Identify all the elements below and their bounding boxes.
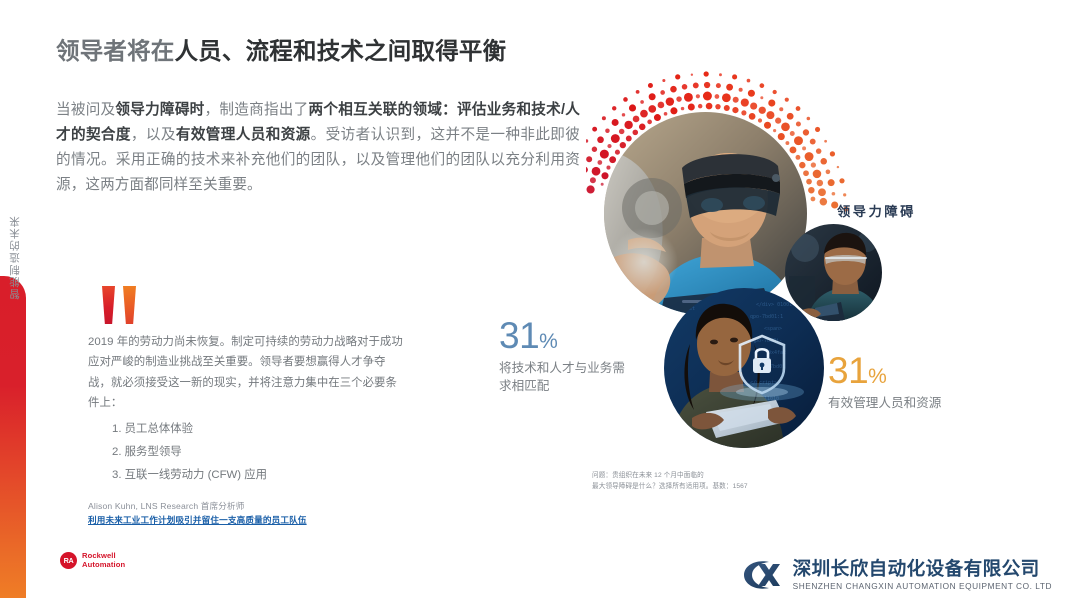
body-seg-6-bold: 有效管理人员和资源 [176,127,311,143]
changxin-company-logo: 深圳长欣自动化设备有限公司 SHENZHEN CHANGXIN AUTOMATI… [742,558,1052,592]
page-title-emphasis: 人员、流程和技术之间取得平衡 [175,38,507,64]
changxin-mark-icon [742,558,784,592]
stat-caption: 将技术和人才与业务需求相匹配 [499,360,631,396]
cybersecurity-lock-photo: </div> 01001 qpo-7bd01:1 <span> qpo-7bd0… [664,288,824,448]
footnote-line-2: 最大领导障碍是什么？选择所有适用项。基数：1567 [592,481,842,492]
pull-quote-block: 2019 年的劳动力尚未恢复。制定可持续的劳动力战略对于成功应对严峻的制造业挑战… [88,286,408,527]
vertical-section-label: 智能制造的未来 [3,150,25,300]
stat-manage-people-resources: 31% 有效管理人员和资源 [828,352,1008,413]
collage-label: 领导力障碍 [837,201,916,220]
technician-tablet-photo [785,224,882,321]
changxin-name-en: SHENZHEN CHANGXIN AUTOMATION EQUIPMENT C… [793,581,1052,591]
pull-quote-list: 1. 员工总体体验 2. 服务型领导 3. 互联一线劳动力 (CFW) 应用 [88,418,408,486]
rockwell-automation-logo: RA Rockwell Automation [60,551,125,570]
changxin-name-cn: 深圳长欣自动化设备有限公司 [793,559,1052,580]
svg-text:qpo-7bd01:1: qpo-7bd01:1 [750,314,783,320]
body-seg-1: 当被问及 [56,102,115,118]
stat-percent-sign: % [868,365,886,388]
changxin-wordmark: 深圳长欣自动化设备有限公司 SHENZHEN CHANGXIN AUTOMATI… [793,559,1052,591]
body-seg-3: ，制造商指出了 [205,102,309,118]
rockwell-badge-icon: RA [60,552,77,569]
stat-value: 31% [828,352,1008,389]
pull-quote-attribution: Alison Kuhn, LNS Research 首席分析师 利用未来工业工作… [88,500,408,528]
footnote-line-1: 问题：贵组织在未来 12 个月中面临的 [592,470,842,481]
quote-source-link[interactable]: 利用未来工业工作计划吸引并留住一支高质量的员工队伍 [88,514,408,528]
rockwell-wordmark: Rockwell Automation [82,551,125,570]
list-item: 2. 服务型领导 [112,441,408,464]
list-item: 1. 员工总体体验 [112,418,408,441]
pull-quote-text: 2019 年的劳动力尚未恢复。制定可持续的劳动力战略对于成功应对严峻的制造业挑战… [88,332,408,413]
rockwell-word-line-1: Rockwell [82,551,125,560]
stat-percent-sign: % [539,330,557,353]
page-title-lead: 领导者将在 [56,38,175,64]
list-item: 3. 互联一线劳动力 (CFW) 应用 [112,464,408,487]
page-title: 领导者将在人员、流程和技术之间取得平衡 [56,36,696,67]
quote-mark-icon [102,286,115,324]
body-paragraph: 当被问及领导力障碍时，制造商指出了两个相互关联的领域：评估业务和技术/人才的契合… [56,98,580,198]
stat-technology-talent-match: 31% 将技术和人才与业务需求相匹配 [499,317,631,396]
vertical-section-label-text: 智能制造的未来 [7,215,22,300]
left-accent-bar [0,276,26,598]
survey-footnote: 问题：贵组织在未来 12 个月中面临的 最大领导障碍是什么？选择所有适用项。基数… [592,470,842,493]
slide-canvas: 智能制造的未来 领导者将在人员、流程和技术之间取得平衡 当被问及领导力障碍时，制… [0,0,1066,598]
stat-value: 31% [499,317,631,354]
body-seg-5: ，以及 [131,127,176,143]
svg-text:<span>: <span> [764,326,782,332]
stat-number: 31 [828,350,868,391]
ar-headset-engineer-photo [604,112,807,315]
stat-caption: 有效管理人员和资源 [828,395,1008,413]
quote-author-name: Alison Kuhn, LNS Research 首席分析师 [88,501,245,511]
stat-number: 31 [499,315,539,356]
rockwell-word-line-2: Automation [82,560,125,569]
quote-mark-icon [123,286,136,324]
quote-mark-group [102,286,408,324]
body-seg-2-bold: 领导力障碍时 [115,102,204,118]
svg-text:</div> 01001: </div> 01001 [756,302,792,308]
